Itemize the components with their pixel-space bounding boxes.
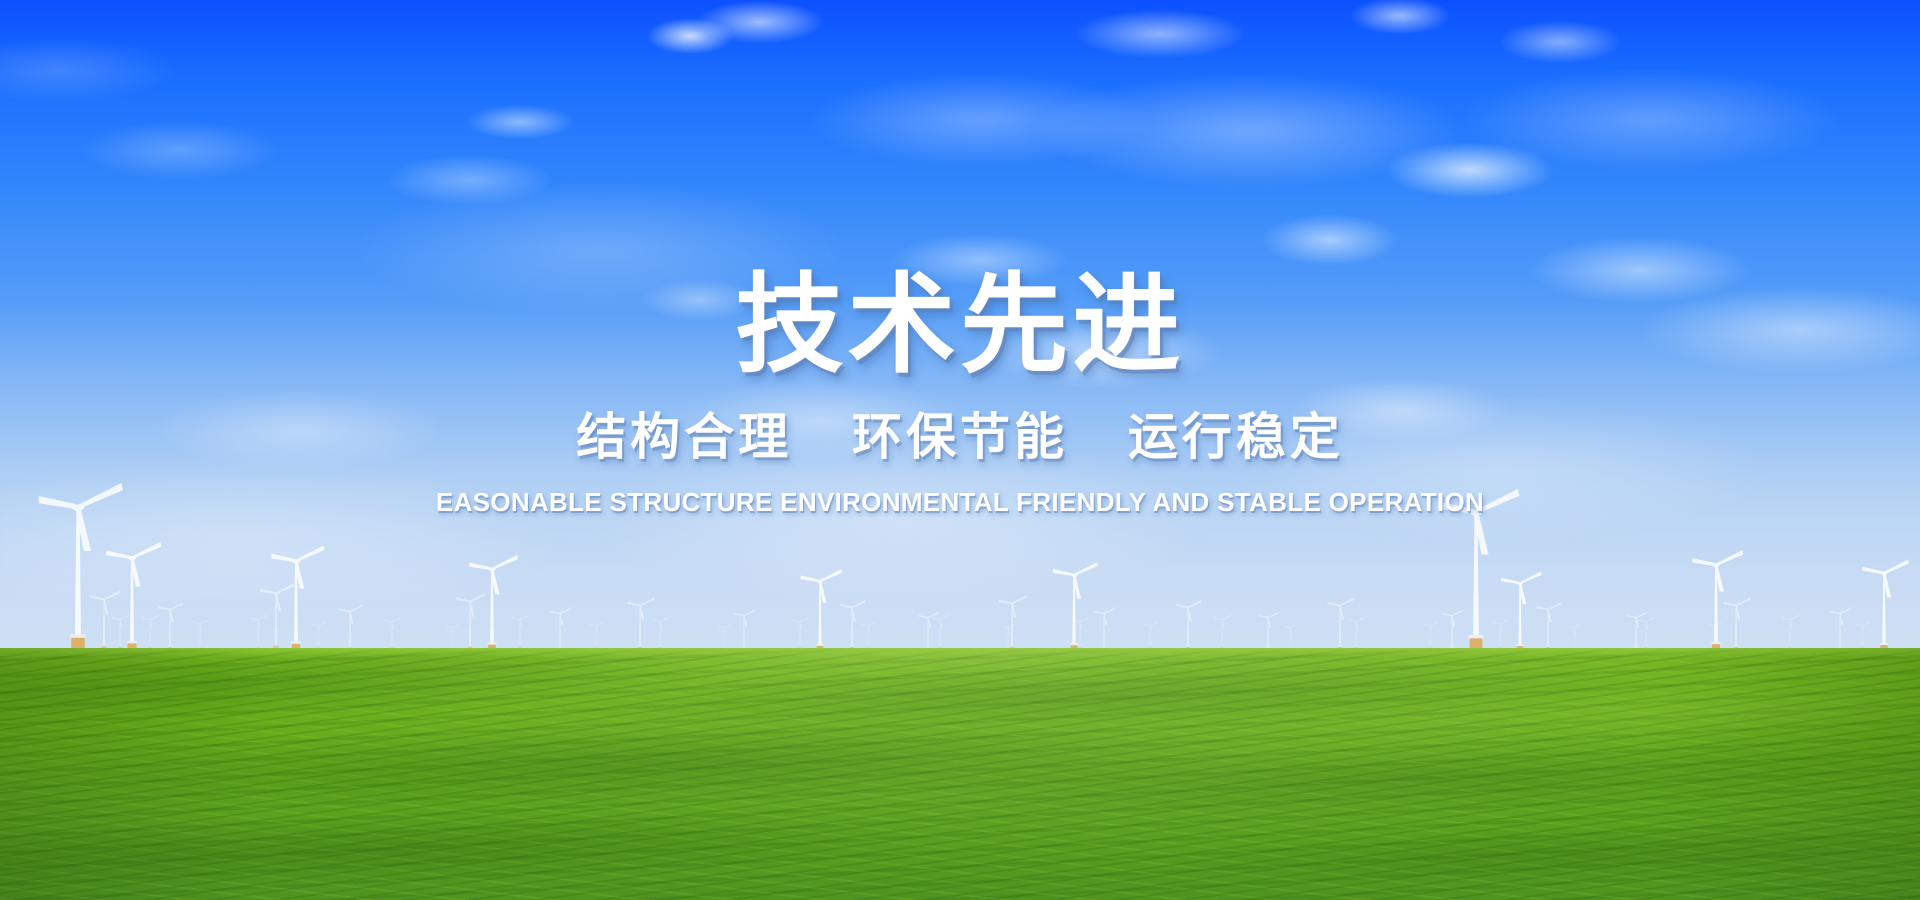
banner-copy: 技术先进 结构合理 环保节能 运行稳定 EASONABLE STRUCTURE … (0, 0, 1920, 652)
grass-field (0, 648, 1920, 900)
subhead-part-3: 运行稳定 (1128, 409, 1344, 465)
subhead-part-1: 结构合理 (576, 409, 792, 465)
subhead-part-2: 环保节能 (852, 409, 1068, 465)
grass-vignette (0, 648, 1920, 900)
banner-headline: 技术先进 (735, 270, 1184, 380)
banner-tagline: EASONABLE STRUCTURE ENVIRONMENTAL FRIEND… (436, 487, 1484, 518)
hero-banner: 技术先进 结构合理 环保节能 运行稳定 EASONABLE STRUCTURE … (0, 0, 1920, 900)
banner-subheadline: 结构合理 环保节能 运行稳定 (576, 410, 1344, 465)
